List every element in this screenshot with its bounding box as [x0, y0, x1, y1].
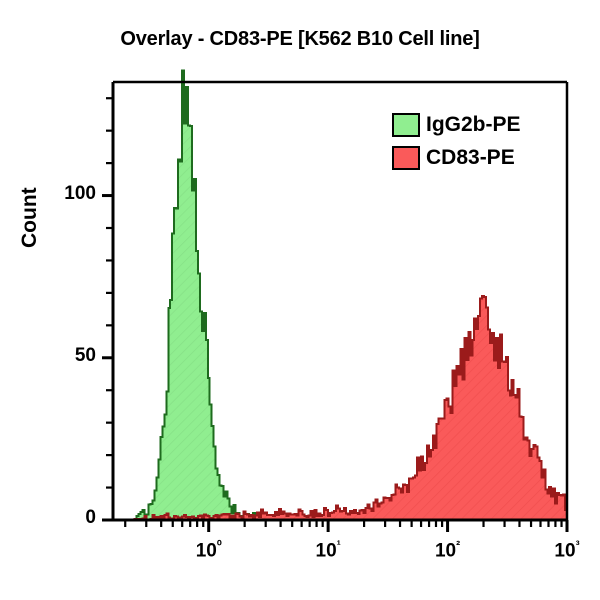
flow-cytometry-histogram: Overlay - CD83-PE [K562 B10 Cell line] C… [0, 0, 600, 600]
legend-item-igg2b-pe: IgG2b-PE [392, 110, 521, 140]
legend-swatch-igg2b-pe [392, 113, 420, 137]
legend-label-igg2b-pe: IgG2b-PE [426, 113, 521, 137]
plot-area [0, 0, 600, 600]
legend: IgG2b-PE CD83-PE [392, 110, 521, 176]
legend-swatch-cd83-pe [392, 146, 420, 170]
legend-label-cd83-pe: CD83-PE [426, 146, 515, 170]
legend-item-cd83-pe: CD83-PE [392, 143, 521, 173]
